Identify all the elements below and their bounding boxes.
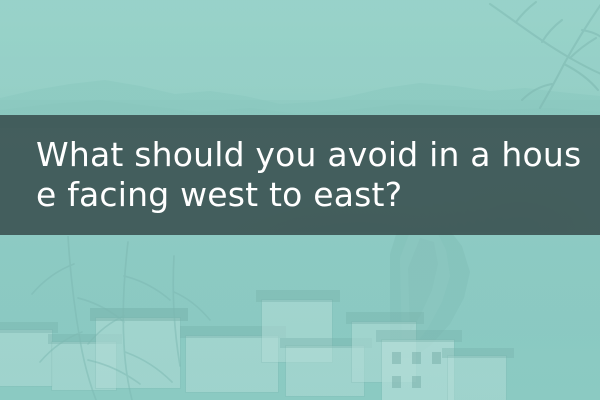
question-card: What should you avoid in a house facing … [0,0,600,400]
caption-banner: What should you avoid in a house facing … [0,115,600,235]
question-text: What should you avoid in a house facing … [36,135,596,215]
